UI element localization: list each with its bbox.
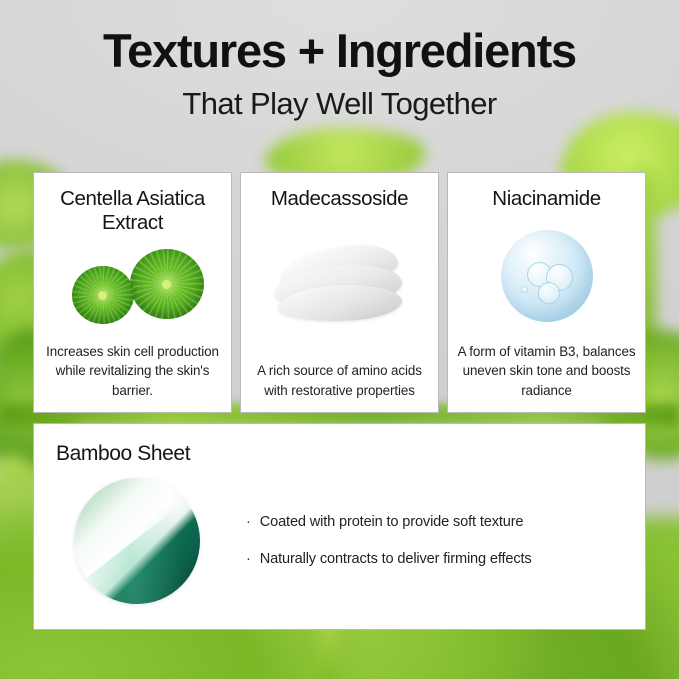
ingredient-card-niacinamide: Niacinamide A form of vitamin B3, balanc… (447, 172, 646, 413)
ingredient-card-grid: Centella Asiatica Extract Increases skin… (33, 172, 646, 413)
page-subtitle: That Play Well Together (0, 87, 679, 121)
list-item: · Naturally contracts to deliver firming… (246, 550, 532, 569)
centella-leaf-large (130, 249, 204, 319)
bullet-icon: · (246, 550, 251, 569)
ingredient-description: Increases skin cell production while rev… (42, 342, 223, 402)
droplet-bubble-4 (521, 286, 528, 293)
bamboo-sheet-swatch-icon (74, 478, 200, 604)
page-title: Textures + Ingredients (0, 26, 679, 77)
list-item-label: Naturally contracts to deliver firming e… (260, 550, 532, 569)
bamboo-sheet-card: Bamboo Sheet · Coated with protein to pr… (33, 423, 646, 630)
ingredient-name: Niacinamide (492, 187, 600, 211)
droplet-bubble-3 (538, 282, 560, 304)
list-item-label: Coated with protein to provide soft text… (260, 513, 524, 532)
cream-swatch-icon (249, 211, 430, 361)
bullet-icon: · (246, 513, 251, 532)
centella-leaf-small (72, 266, 134, 324)
list-item: · Coated with protein to provide soft te… (246, 513, 532, 532)
ingredient-name: Centella Asiatica Extract (42, 187, 223, 235)
bamboo-sheet-content: · Coated with protein to provide soft te… (56, 478, 623, 604)
ingredient-card-centella: Centella Asiatica Extract Increases skin… (33, 172, 232, 413)
header: Textures + Ingredients That Play Well To… (0, 26, 679, 121)
ingredient-card-madecassoside: Madecassoside A rich source of amino aci… (240, 172, 439, 413)
centella-leaves-icon (42, 235, 223, 342)
ingredient-name: Madecassoside (271, 187, 408, 211)
ingredient-description: A form of vitamin B3, balances uneven sk… (456, 342, 637, 402)
ingredient-description: A rich source of amino acids with restor… (249, 361, 430, 402)
water-droplet-icon (456, 211, 637, 342)
bamboo-bullet-list: · Coated with protein to provide soft te… (246, 513, 532, 569)
bamboo-sheet-title: Bamboo Sheet (56, 442, 623, 466)
